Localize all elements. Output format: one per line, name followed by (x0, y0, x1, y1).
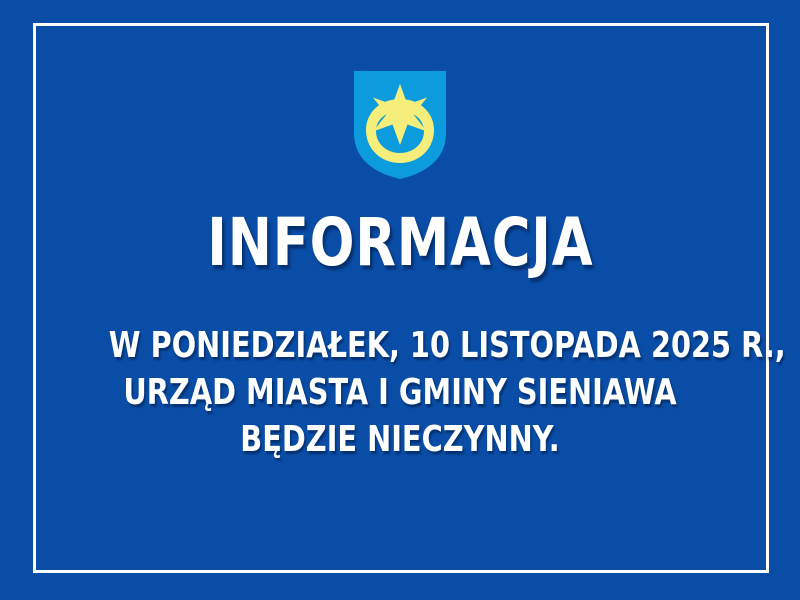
page-title: INFORMACJA (207, 210, 593, 276)
announcement-line: W PONIEDZIAŁEK, 10 LISTOPADA 2025 R., (109, 322, 691, 369)
announcement-line: URZĄD MIASTA I GMINY SIENIAWA (109, 369, 691, 416)
announcement-body: W PONIEDZIAŁEK, 10 LISTOPADA 2025 R., UR… (36, 322, 764, 463)
announcement-line: BĘDZIE NIECZYNNY. (109, 416, 691, 463)
poster-content: INFORMACJA W PONIEDZIAŁEK, 10 LISTOPADA … (36, 26, 764, 570)
notice-poster: INFORMACJA W PONIEDZIAŁEK, 10 LISTOPADA … (0, 0, 800, 600)
coat-of-arms-icon (354, 71, 446, 179)
